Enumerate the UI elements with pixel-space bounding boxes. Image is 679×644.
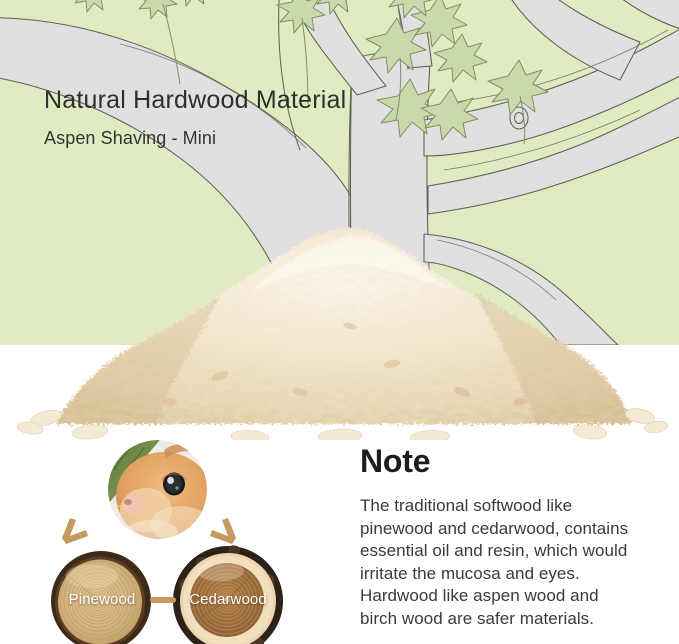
- arrow-pinewood-to-hamster: [62, 518, 88, 544]
- pinewood-label: Pinewood: [52, 591, 152, 608]
- product-infographic: Natural Hardwood Material Aspen Shaving …: [0, 0, 679, 644]
- note-title: Note: [360, 445, 660, 477]
- diagram-connectors: [40, 440, 340, 644]
- page-subtitle: Aspen Shaving - Mini: [44, 128, 564, 149]
- note-body-text: The traditional softwood like pinewood a…: [360, 495, 635, 630]
- note-panel: Note The traditional softwood like pinew…: [360, 445, 660, 630]
- arrow-cedarwood-to-hamster: [210, 518, 236, 544]
- cedarwood-label: Cedarwood: [170, 591, 286, 608]
- wood-comparison-diagram: Pinewood Cedarwood: [40, 440, 340, 644]
- hero-text-block: Natural Hardwood Material Aspen Shaving …: [44, 86, 564, 148]
- page-title: Natural Hardwood Material: [44, 86, 564, 115]
- tree-line-art-illustration: [0, 0, 679, 345]
- note-section: Pinewood Cedarwood Note The traditional …: [0, 345, 679, 644]
- hero-banner: Natural Hardwood Material Aspen Shaving …: [0, 0, 679, 345]
